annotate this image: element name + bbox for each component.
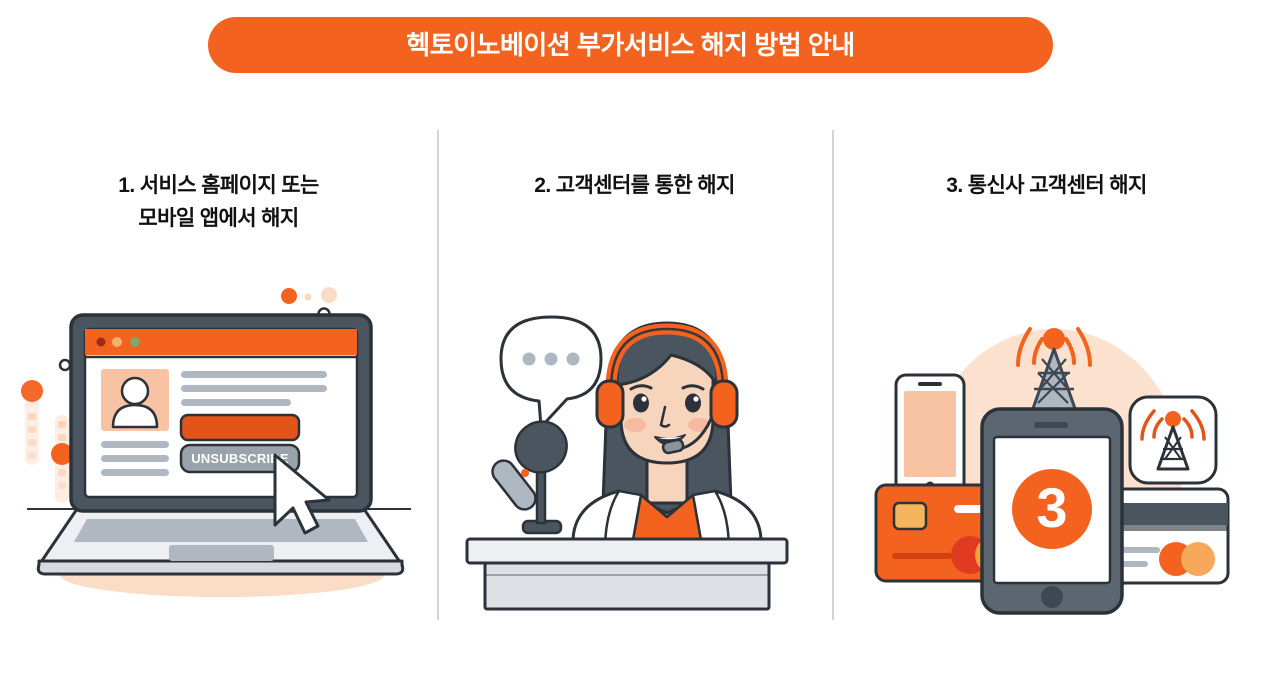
smartphone-large: 3 bbox=[982, 409, 1122, 613]
decor-dot-2 bbox=[304, 294, 311, 301]
column-1: 1. 서비스 홈페이지 또는 모바일 앱에서 해지 bbox=[0, 130, 437, 630]
telecom-illustration: 3 bbox=[862, 297, 1232, 622]
column-2: 2. 고객센터를 통한 해지 bbox=[437, 130, 832, 630]
laptop-illustration: UNSUBSCRIBE bbox=[19, 287, 419, 622]
column-3-heading: 3. 통신사 고객센터 해지 bbox=[946, 170, 1147, 203]
microphone-icon bbox=[488, 411, 577, 533]
speech-bubble-icon bbox=[501, 317, 601, 427]
card-chip bbox=[894, 503, 926, 529]
column-3: 3. 통신사 고객센터 해지 bbox=[832, 130, 1261, 630]
tower-tile-icon bbox=[1130, 397, 1216, 483]
column-2-heading: 2. 고객센터를 통한 해지 bbox=[534, 170, 735, 203]
smartphone-small bbox=[896, 375, 964, 495]
eye-right bbox=[685, 394, 701, 413]
laptop-keyboard bbox=[74, 519, 368, 542]
call-center-illustration bbox=[455, 307, 815, 622]
decor-slider-left-1 bbox=[21, 380, 43, 465]
laptop-trackpad bbox=[169, 545, 274, 561]
title-banner: 헥토이노베이션 부가서비스 해지 방법 안내 bbox=[208, 17, 1053, 73]
browser-dot-yellow-icon bbox=[112, 337, 122, 347]
decor-slider-right-1 bbox=[207, 287, 221, 295]
desk-front bbox=[485, 563, 769, 609]
content-line bbox=[101, 469, 169, 476]
content-line bbox=[101, 455, 169, 462]
content-line bbox=[181, 371, 327, 378]
decor-ring-left bbox=[60, 360, 70, 370]
browser-dot-green-icon bbox=[130, 337, 140, 347]
primary-action-button bbox=[181, 415, 299, 440]
content-line bbox=[181, 399, 291, 406]
earcup-left bbox=[597, 381, 623, 427]
browser-dot-red-icon bbox=[96, 338, 105, 347]
content-line bbox=[181, 385, 327, 392]
earcup-right bbox=[711, 381, 737, 427]
browser-title-bar bbox=[85, 329, 357, 355]
banner-container: 헥토이노베이션 부가서비스 해지 방법 안내 bbox=[0, 17, 1261, 73]
decor-dot-3 bbox=[321, 287, 337, 303]
infographic-page: 헥토이노베이션 부가서비스 해지 방법 안내 1. 서비스 홈페이지 또는 모바… bbox=[0, 0, 1261, 688]
column-1-heading: 1. 서비스 홈페이지 또는 모바일 앱에서 해지 bbox=[118, 170, 319, 235]
eye-left bbox=[633, 394, 649, 413]
desk-top bbox=[467, 539, 787, 563]
content-line bbox=[101, 441, 169, 448]
columns-container: 1. 서비스 홈페이지 또는 모바일 앱에서 해지 bbox=[0, 130, 1261, 630]
phone-badge-label: 3 bbox=[1036, 476, 1067, 539]
decor-dot-1 bbox=[281, 288, 297, 304]
page-title: 헥토이노베이션 부가서비스 해지 방법 안내 bbox=[406, 32, 854, 58]
